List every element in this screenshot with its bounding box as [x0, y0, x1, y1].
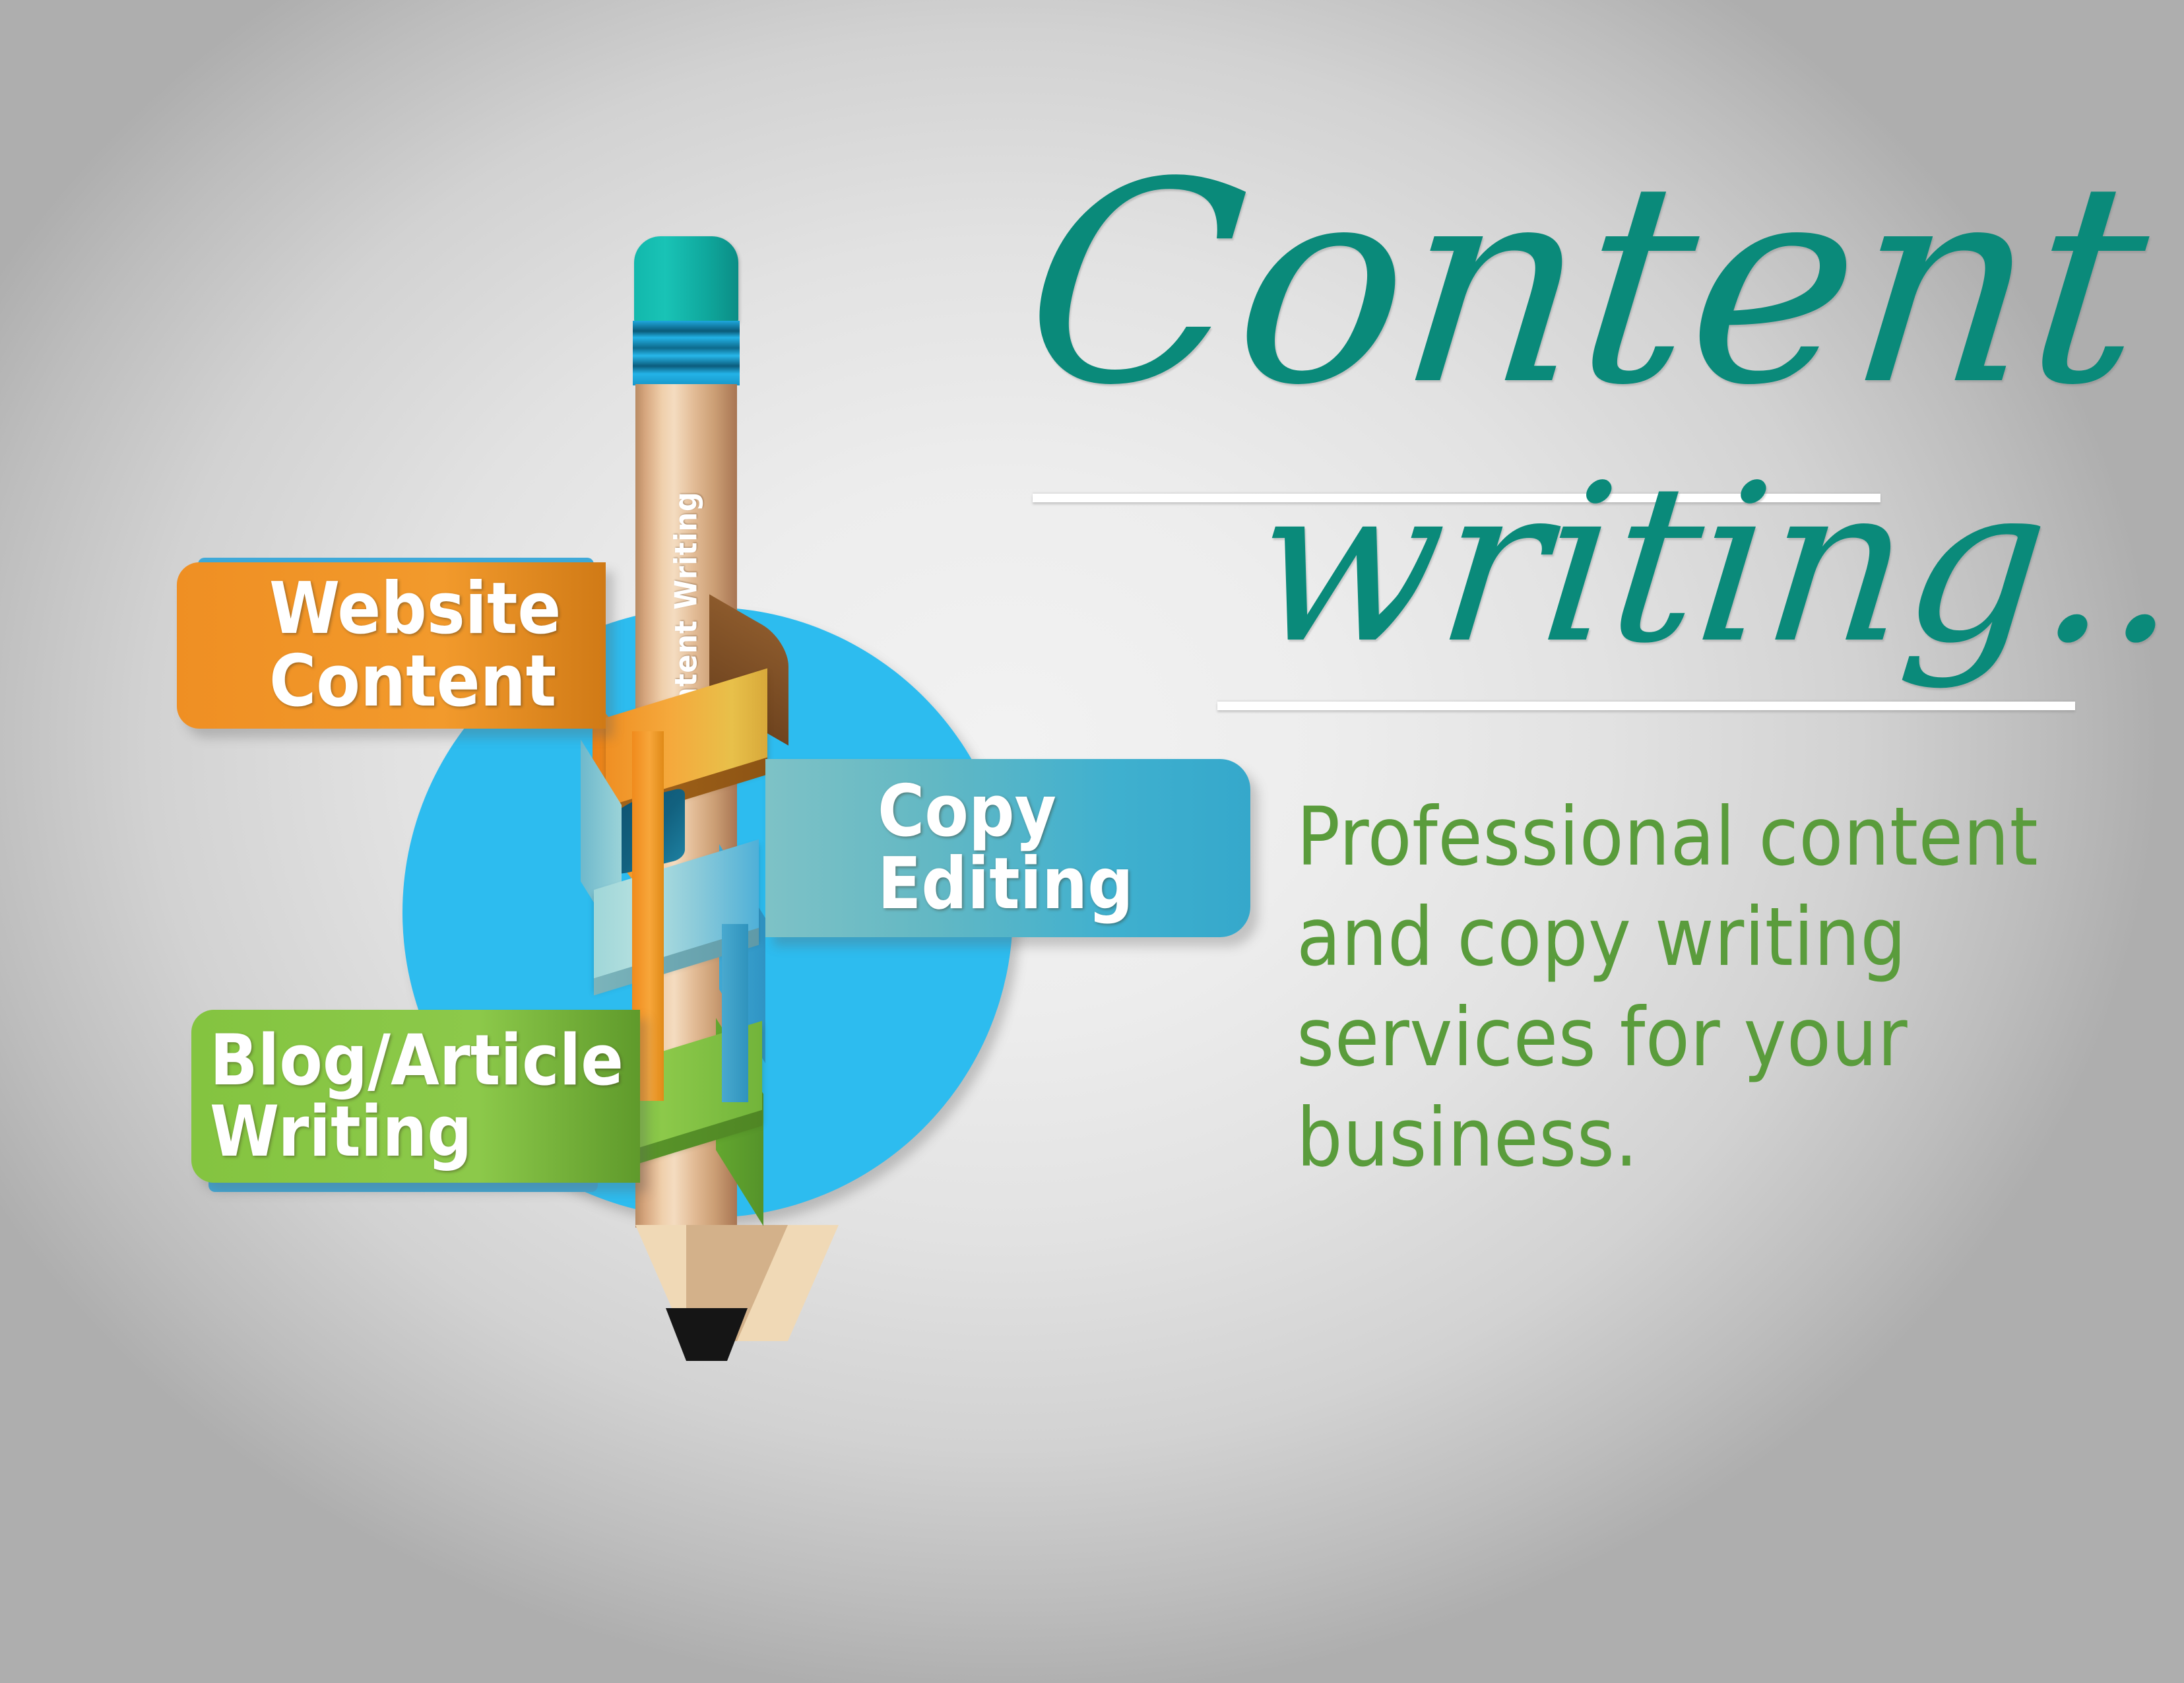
tagline-line-4: business.: [1297, 1088, 2115, 1188]
pencil-blue-stripe: [722, 924, 748, 1102]
headline-line-2: writing....: [1246, 455, 2184, 673]
banner-blog-article-writing[interactable]: Blog/Article Writing: [191, 1010, 640, 1183]
headline-line-1: Content: [1015, 147, 2157, 424]
poster-canvas: Content Writing Website Content Copy Edi…: [0, 0, 2184, 1683]
pencil-eraser: [634, 236, 738, 323]
banner-tab-bottom: [209, 1181, 598, 1192]
banner-website-content[interactable]: Website Content: [177, 562, 606, 729]
tagline-line-3: services for your: [1297, 987, 2115, 1088]
pencil-ferrule: [633, 321, 740, 385]
banner-copy-editing[interactable]: Copy Editing: [765, 759, 1250, 937]
tagline-line-2: and copy writing: [1297, 887, 2115, 987]
banner-website-content-label: Website Content: [269, 573, 561, 718]
tagline-paragraph: Professional content and copy writing se…: [1297, 787, 2115, 1188]
tagline-line-1: Professional content: [1297, 787, 2115, 887]
banner-blog-article-writing-label: Blog/Article Writing: [210, 1025, 624, 1168]
pencil-lead-tip: [666, 1308, 748, 1361]
banner-copy-editing-label: Copy Editing: [878, 775, 1134, 921]
headline-rule-2: [1217, 702, 2075, 710]
